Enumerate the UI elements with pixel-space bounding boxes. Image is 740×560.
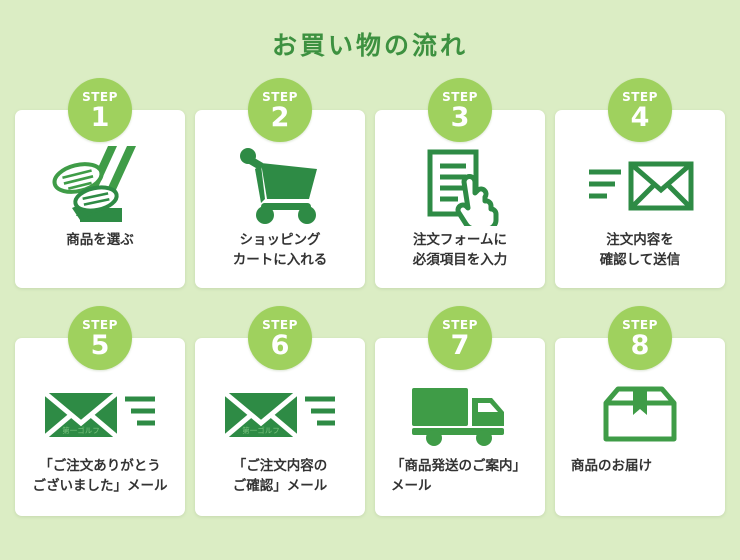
golf-clubs-icon (50, 142, 150, 230)
step-card-1: STEP 1 (15, 110, 185, 288)
step-label-6: 「ご注文内容の ご確認」メール (195, 456, 365, 497)
step-badge-number: 2 (271, 104, 290, 131)
step-label-2: ショッピング カートに入れる (195, 230, 365, 271)
step-badge-number: 5 (91, 332, 110, 359)
step-label-8: 商品のお届け (555, 456, 725, 476)
step-badge-3: STEP 3 (428, 78, 492, 142)
step-label-4: 注文内容を 確認して送信 (555, 230, 725, 271)
step-icon-area-4 (555, 140, 725, 232)
step-icon-area-2 (195, 140, 365, 232)
page-title: お買い物の流れ (0, 26, 740, 62)
step-badge-5: STEP 5 (68, 306, 132, 370)
send-mail-icon (585, 158, 695, 214)
envelope-brand-text: 第一ゴルフ (242, 425, 280, 435)
shopping-cart-icon (237, 147, 323, 225)
step-badge-7: STEP 7 (428, 306, 492, 370)
step-badge-6: STEP 6 (248, 306, 312, 370)
step-label-line: 注文フォームに (387, 230, 533, 250)
received-mail-icon: 第一ゴルフ (41, 385, 159, 443)
step-label-line: メール (391, 476, 533, 496)
step-label-1: 商品を選ぶ (15, 230, 185, 250)
step-card-6: STEP 6 第一ゴルフ (195, 338, 365, 516)
step-icon-area-1 (15, 140, 185, 232)
step-label-line: 商品のお届け (571, 456, 713, 476)
step-badge-number: 7 (451, 332, 470, 359)
step-badge-1: STEP 1 (68, 78, 132, 142)
package-box-icon (600, 383, 680, 445)
step-label-line: ご確認」メール (207, 476, 353, 496)
step-badge-number: 8 (631, 332, 650, 359)
step-badge-number: 3 (451, 104, 470, 131)
step-label-5: 「ご注文ありがとう ございました」メール (15, 456, 185, 497)
delivery-truck-icon (408, 382, 512, 446)
step-label-7: 「商品発送のご案内」 メール (375, 456, 545, 497)
received-mail-icon: 第一ゴルフ (221, 385, 339, 443)
step-label-line: 「ご注文ありがとう (27, 456, 173, 476)
step-icon-area-5: 第一ゴルフ (15, 368, 185, 460)
step-label-line: 確認して送信 (567, 250, 713, 270)
step-icon-area-7 (375, 368, 545, 460)
step-badge-number: 1 (91, 104, 110, 131)
step-card-7: STEP 7 「商品発送のご案内」 メール (375, 338, 545, 516)
step-badge-number: 6 (271, 332, 290, 359)
step-label-line: 必須項目を入力 (387, 250, 533, 270)
envelope-brand-text: 第一ゴルフ (62, 425, 100, 435)
step-card-3: STEP 3 (375, 110, 545, 288)
step-label-line: ショッピング (207, 230, 353, 250)
step-label-line: 商品を選ぶ (27, 230, 173, 250)
order-form-hand-icon (420, 146, 500, 226)
step-badge-8: STEP 8 (608, 306, 672, 370)
step-icon-area-3 (375, 140, 545, 232)
step-label-line: 「商品発送のご案内」 (391, 456, 533, 476)
shopping-flow-infographic: お買い物の流れ STEP 1 (0, 0, 740, 560)
step-card-8: STEP 8 商品のお届け (555, 338, 725, 516)
step-card-5: STEP 5 第一ゴルフ (15, 338, 185, 516)
step-badge-2: STEP 2 (248, 78, 312, 142)
step-label-line: 注文内容を (567, 230, 713, 250)
step-icon-area-8 (555, 368, 725, 460)
step-label-line: 「ご注文内容の (207, 456, 353, 476)
step-label-line: カートに入れる (207, 250, 353, 270)
step-badge-4: STEP 4 (608, 78, 672, 142)
step-label-3: 注文フォームに 必須項目を入力 (375, 230, 545, 271)
step-badge-number: 4 (631, 104, 650, 131)
steps-grid: STEP 1 (15, 110, 725, 516)
step-icon-area-6: 第一ゴルフ (195, 368, 365, 460)
step-label-line: ございました」メール (27, 476, 173, 496)
step-card-4: STEP 4 注文内容を (555, 110, 725, 288)
step-card-2: STEP 2 ショッピング カート (195, 110, 365, 288)
